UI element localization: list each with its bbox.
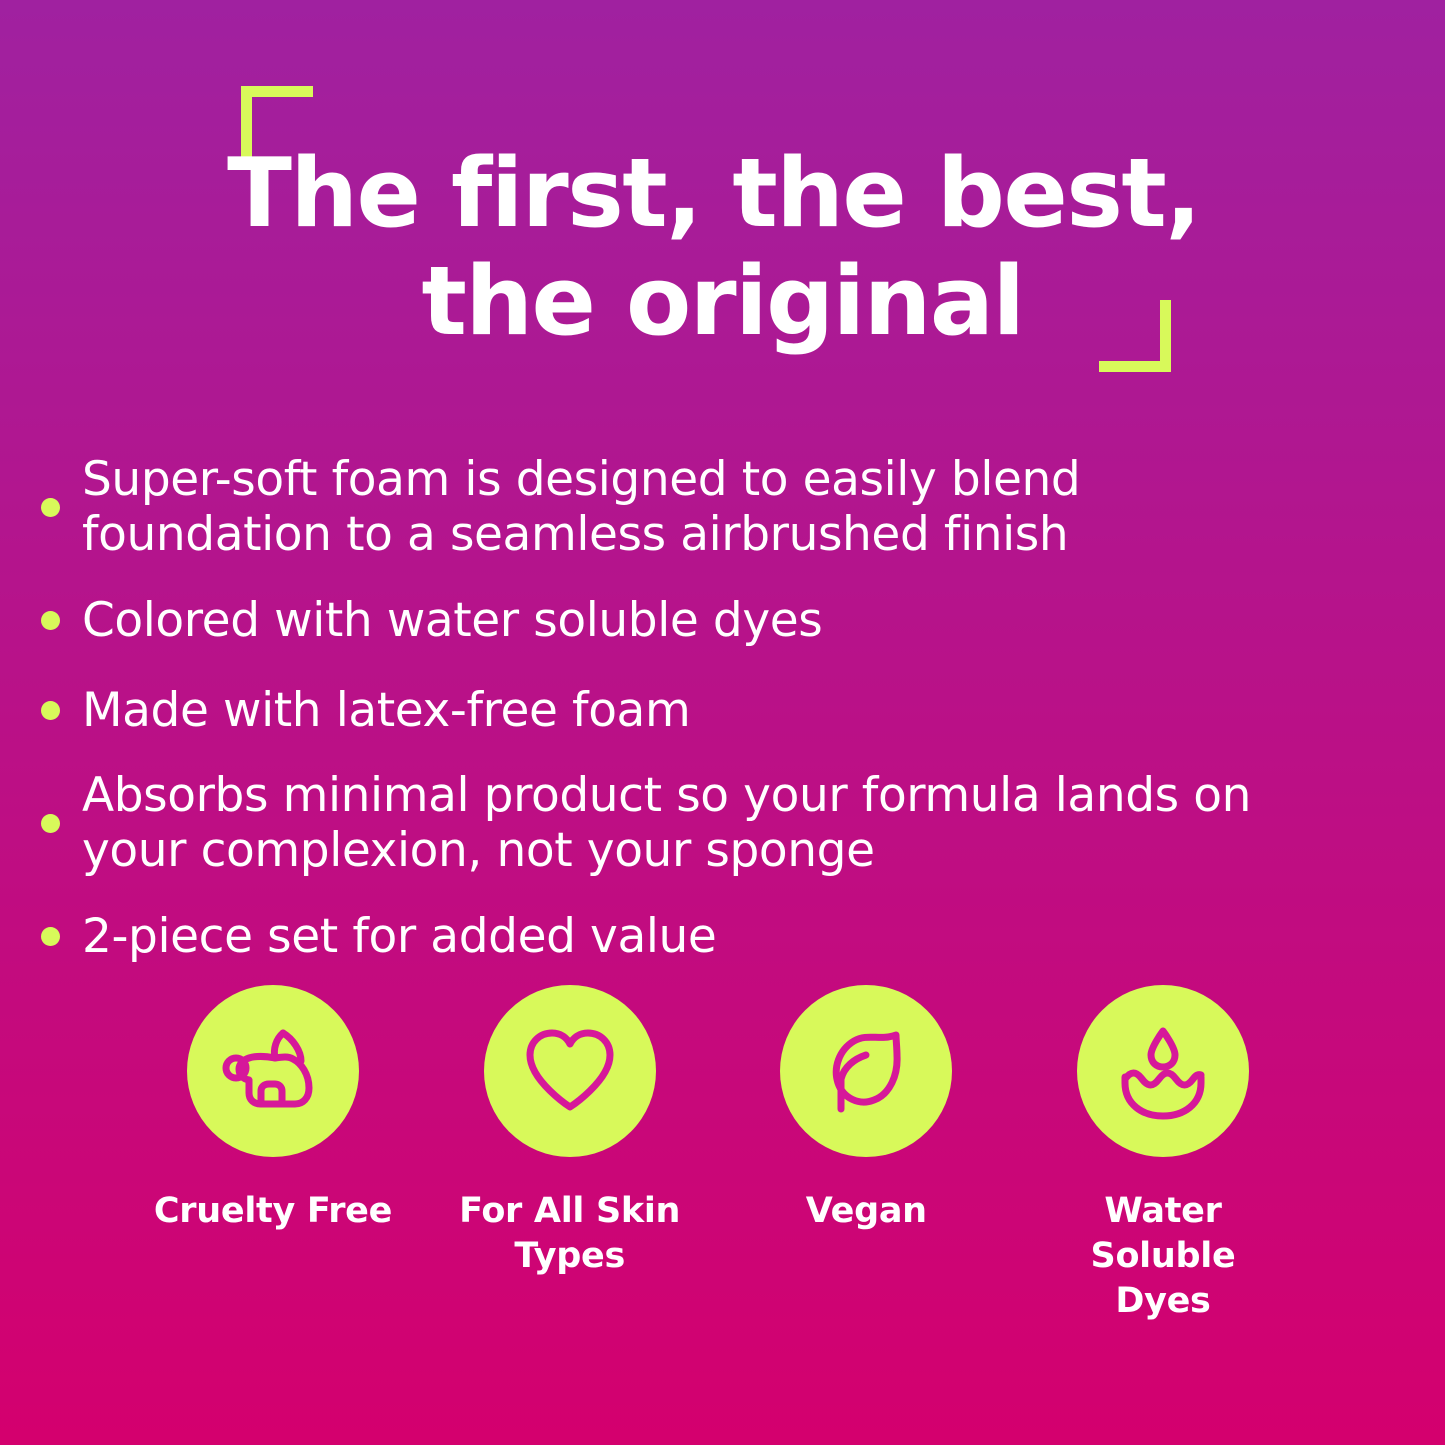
headline-line-1: The first, the best,: [0, 140, 1445, 248]
bullet-dot-icon: [0, 611, 82, 630]
badge-label: Water Soluble Dyes: [1043, 1189, 1283, 1324]
bullet-dot-icon: [0, 927, 82, 946]
leaf-icon: [806, 1011, 926, 1131]
bullet-dot-icon: [0, 701, 82, 720]
badge-label: Vegan: [806, 1189, 927, 1234]
headline: The first, the best, the original: [0, 140, 1445, 356]
product-feature-poster: The first, the best, the original Super-…: [0, 0, 1445, 1445]
badge-circle: [1077, 985, 1249, 1157]
list-item: Super-soft foam is designed to easily bl…: [0, 452, 1445, 562]
bullet-text: Colored with water soluble dyes: [82, 593, 1295, 648]
badge-label: For All Skin Types: [450, 1189, 690, 1279]
list-item: Colored with water soluble dyes: [0, 588, 1445, 652]
badge-vegan: Vegan: [741, 985, 991, 1234]
list-item: Absorbs minimal product so your formula …: [0, 768, 1445, 878]
badge-circle: [187, 985, 359, 1157]
heart-icon: [510, 1011, 630, 1131]
bullet-dot-icon: [0, 498, 82, 517]
headline-line-2: the original: [0, 248, 1445, 356]
bullet-text: 2-piece set for added value: [82, 909, 1295, 964]
badge-label: Cruelty Free: [154, 1189, 392, 1234]
badge-for-all-skin-types: For All Skin Types: [445, 985, 695, 1279]
list-item: 2-piece set for added value: [0, 904, 1445, 968]
water-drop-icon: [1103, 1011, 1223, 1131]
bunny-icon: [213, 1011, 333, 1131]
bullet-text: Made with latex-free foam: [82, 683, 1295, 738]
badge-circle: [484, 985, 656, 1157]
badge-row: Cruelty Free For All Skin Types: [148, 985, 1288, 1324]
badge-cruelty-free: Cruelty Free: [148, 985, 398, 1234]
badge-circle: [780, 985, 952, 1157]
feature-bullet-list: Super-soft foam is designed to easily bl…: [0, 452, 1445, 994]
badge-water-soluble-dyes: Water Soluble Dyes: [1038, 985, 1288, 1324]
bullet-text: Super-soft foam is designed to easily bl…: [82, 452, 1295, 562]
bullet-dot-icon: [0, 814, 82, 833]
bullet-text: Absorbs minimal product so your formula …: [82, 768, 1295, 878]
list-item: Made with latex-free foam: [0, 678, 1445, 742]
